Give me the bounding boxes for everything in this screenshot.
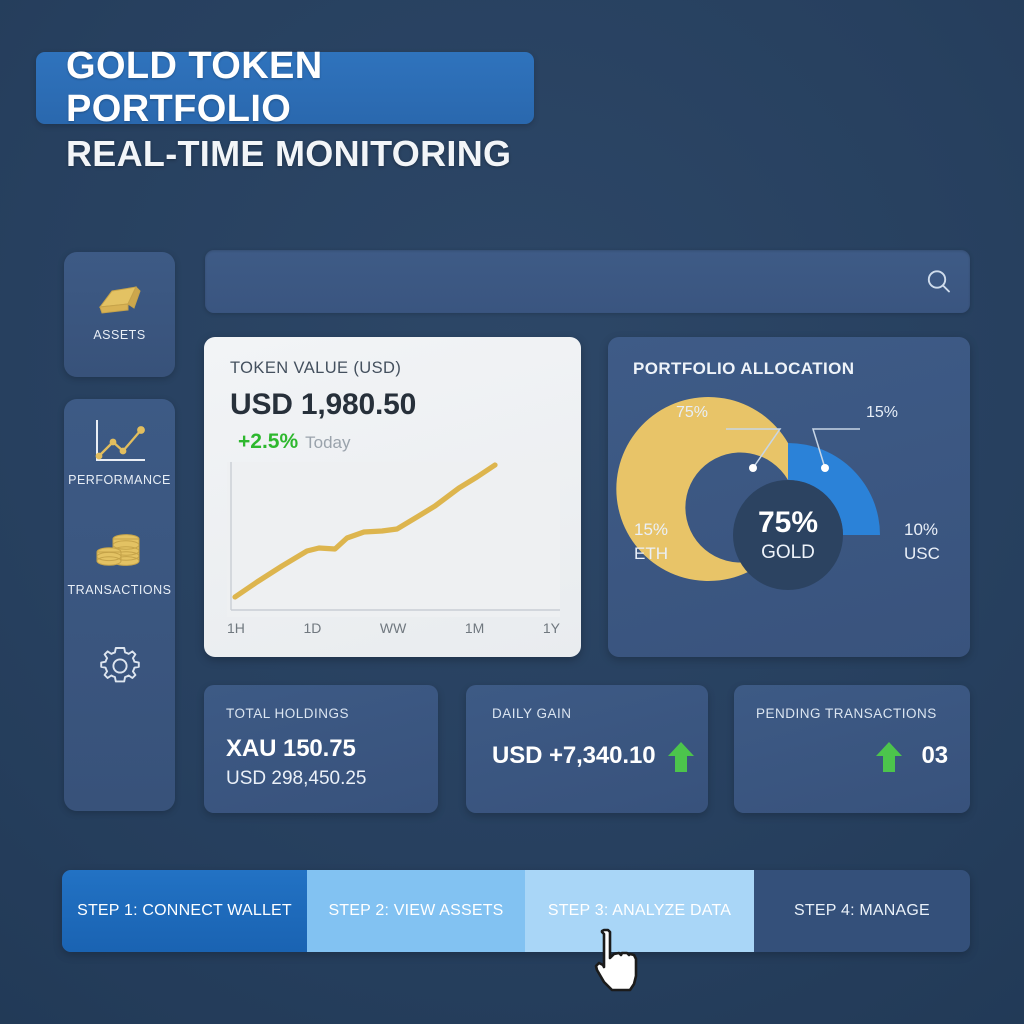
gear-icon: [64, 639, 175, 693]
donut-side-left-pct: 15%: [634, 520, 668, 539]
stat-card-pending-transactions: PENDING TRANSACTIONS 03: [734, 685, 970, 813]
portfolio-allocation-donut-chart: 75% 15% 15% ETH 10% USC 75% GOLD: [608, 337, 970, 657]
token-value-delta: +2.5%: [238, 430, 298, 454]
line-chart-icon: [64, 415, 175, 469]
up-arrow-icon: [666, 740, 696, 779]
dashboard-root: GOLD TOKEN PORTFOLIO REAL-TIME MONITORIN…: [0, 0, 1024, 1024]
sidebar-item-label: PERFORMANCE: [64, 473, 175, 487]
stat-card-daily-gain: DAILY GAIN USD +7,340.10: [466, 685, 708, 813]
stat-primary-value: 03: [922, 742, 949, 770]
axis-tick-1h: 1H: [227, 620, 245, 636]
axis-tick-ww: WW: [380, 620, 406, 636]
donut-callout-right-label: 15%: [866, 404, 898, 421]
stat-card-total-holdings: TOTAL HOLDINGS XAU 150.75 USD 298,450.25: [204, 685, 438, 813]
step-progress-bar: STEP 1: CONNECT WALLET STEP 2: VIEW ASSE…: [62, 870, 970, 952]
stat-primary-value: XAU 150.75: [226, 735, 356, 763]
sidebar-item-performance[interactable]: PERFORMANCE: [64, 415, 175, 487]
token-value-amount: USD 1,980.50: [230, 388, 416, 422]
axis-tick-1d: 1D: [303, 620, 321, 636]
sidebar-panel-secondary: PERFORMANCE: [64, 399, 175, 811]
stat-label: DAILY GAIN: [492, 706, 572, 721]
sidebar-item-assets[interactable]: ASSETS: [64, 270, 175, 342]
sidebar-panel-primary: ASSETS: [64, 252, 175, 377]
donut-callout-right-dot: [821, 464, 829, 472]
search-icon[interactable]: [908, 267, 970, 297]
sidebar-item-settings[interactable]: [64, 639, 175, 697]
axis-tick-1m: 1M: [465, 620, 484, 636]
token-value-axis-labels: 1H 1D WW 1M 1Y: [227, 620, 560, 636]
stat-label: PENDING TRANSACTIONS: [756, 706, 937, 721]
token-value-line-chart: [227, 462, 560, 617]
token-value-title: TOKEN VALUE (USD): [230, 359, 401, 378]
donut-center-label: GOLD: [761, 542, 815, 563]
pointing-hand-cursor: [588, 928, 640, 994]
search-bar[interactable]: [205, 250, 970, 313]
step-2-view-assets[interactable]: STEP 2: VIEW ASSETS: [307, 870, 525, 952]
donut-center-percent: 75%: [758, 506, 818, 539]
token-value-delta-label: Today: [305, 433, 350, 453]
coin-stack-icon: [64, 525, 175, 579]
donut-callout-left-label: 75%: [676, 404, 708, 421]
token-value-card: TOKEN VALUE (USD) USD 1,980.50 +2.5% Tod…: [204, 337, 581, 657]
sidebar-item-transactions[interactable]: TRANSACTIONS: [64, 525, 175, 597]
donut-side-left-name: ETH: [634, 544, 668, 563]
page-title-chip: GOLD TOKEN PORTFOLIO: [36, 52, 534, 124]
stat-label: TOTAL HOLDINGS: [226, 706, 349, 721]
donut-side-right-pct: 10%: [904, 520, 938, 539]
stat-secondary-value: USD 298,450.25: [226, 768, 367, 790]
axis-tick-1y: 1Y: [543, 620, 560, 636]
stat-primary-value: USD +7,340.10: [492, 742, 655, 770]
page-title: GOLD TOKEN PORTFOLIO: [36, 45, 534, 131]
step-1-connect-wallet[interactable]: STEP 1: CONNECT WALLET: [62, 870, 307, 952]
donut-side-right-name: USC: [904, 544, 940, 563]
sidebar-item-label: TRANSACTIONS: [64, 583, 175, 597]
donut-callout-left-dot: [749, 464, 757, 472]
portfolio-allocation-card: PORTFOLIO ALLOCATION 75% 15% 15% ETH 1: [608, 337, 970, 657]
step-4-manage[interactable]: STEP 4: MANAGE: [754, 870, 970, 952]
search-input[interactable]: [205, 250, 908, 313]
page-subtitle: REAL-TIME MONITORING: [66, 133, 511, 175]
token-value-delta-row: +2.5% Today: [238, 430, 351, 454]
sidebar-item-label: ASSETS: [64, 328, 175, 342]
gold-bar-icon: [64, 270, 175, 324]
up-arrow-icon: [874, 740, 904, 779]
